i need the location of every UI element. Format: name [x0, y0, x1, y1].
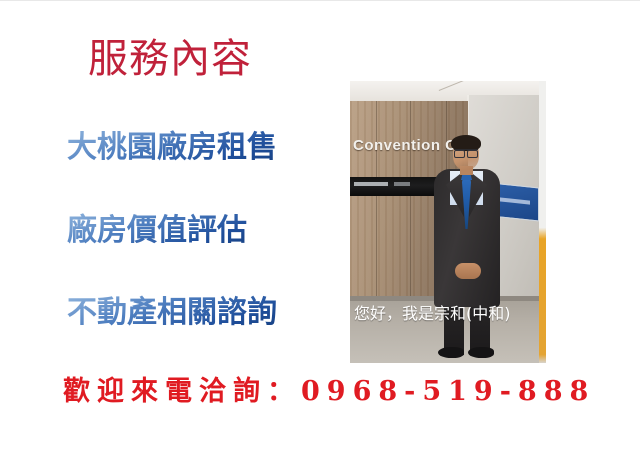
service-item-0: 大桃園廠房租售 — [67, 129, 277, 167]
contact-phone-line: 歡迎來電洽詢：0968-519-888 — [63, 375, 595, 409]
slide-canvas: 服務內容 大桃園廠房租售 廠房價值評估 不動產相關諮詢 歡迎來電洽詢：0968-… — [0, 0, 640, 451]
clasped-hands — [455, 263, 481, 279]
right-shoe — [468, 347, 494, 358]
portrait-photo: Convention Ce — [350, 81, 546, 363]
photo-caption: 您好，我是宗和(中和) — [354, 304, 542, 324]
glasses-icon — [454, 149, 478, 157]
service-item-1: 廠房價值評估 — [67, 212, 247, 250]
service-item-2: 不動產相關諮詢 — [67, 294, 277, 332]
page-title: 服務內容 — [88, 34, 252, 84]
left-shoe — [438, 347, 464, 358]
